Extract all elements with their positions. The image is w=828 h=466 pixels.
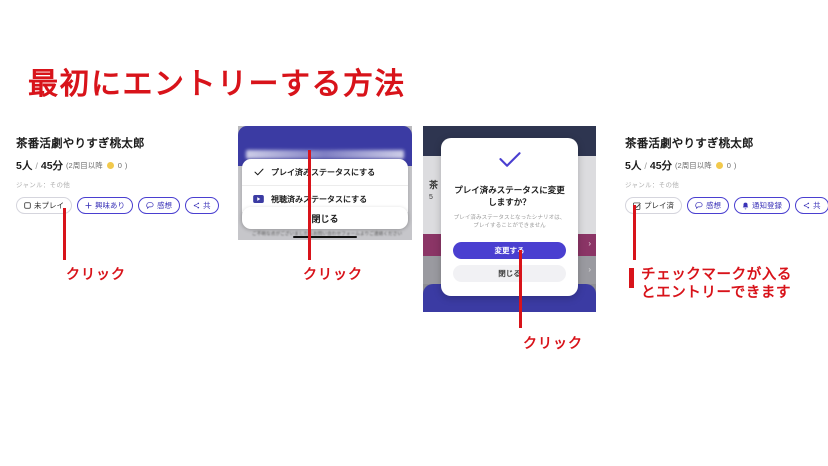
chip-share[interactable]: 共 [185,197,219,214]
sheet-close-label: 閉じる [311,212,338,225]
bg-card-meta-ghost: 5 [429,194,433,201]
home-indicator [293,236,357,238]
comment-icon [146,202,154,209]
card-meta: 5人 / 45分 (2周目以降 0 ) [16,158,231,173]
callout-line-step1 [63,208,66,260]
card-action-chips: プレイ済 感想 通知登録 共 [625,197,828,214]
repeat-note: (2周目以降 [66,160,103,171]
chip-label: 通知登録 [752,200,782,211]
check-icon [441,151,578,173]
square-outline-icon [24,202,31,209]
repeat-count: 0 [727,161,731,170]
meta-slash: / [35,161,38,171]
chip-label: 感想 [157,200,172,211]
repeat-close: ) [125,161,128,170]
player-count: 5人 [16,158,32,173]
dialog-close-button[interactable]: 閉じる [453,265,566,282]
callout-note-step4: チェックマークが入る とエントリーできます [641,266,792,302]
callout-label-step3: クリック [523,333,583,353]
sheet-row-label: プレイ済みステータスにする [271,167,375,178]
card-title: 茶番活劇やりすぎ桃太郎 [625,135,828,151]
callout-note-line1: チェックマークが入る [641,266,792,284]
callout-line-step3 [519,250,522,328]
bg-card-title-ghost: 茶 [429,178,438,191]
repeat-count: 0 [118,161,122,170]
plus-icon [85,202,92,209]
sheet-close-button[interactable]: 閉じる [242,207,408,229]
share-icon [803,202,810,209]
card-title: 茶番活劇やりすぎ桃太郎 [16,135,231,151]
step2-phone-screen: プレイ済みステータスにする 視聴済みステータスにする 終了したイベントです 閉じ… [238,126,412,240]
sheet-row-label: 視聴済みステータスにする [271,194,367,205]
chip-review[interactable]: 感想 [687,197,729,214]
coin-icon [107,162,114,169]
blurred-header-text [246,150,404,159]
repeat-note: (2周目以降 [675,160,712,171]
sheet-row-play-status[interactable]: プレイ済みステータスにする [242,159,408,186]
player-count: 5人 [625,158,641,173]
callout-accent-bar [629,268,634,288]
dialog-close-label: 閉じる [498,268,521,279]
meta-slash: / [644,161,647,171]
callout-note-line2: とエントリーできます [641,284,792,302]
slide-canvas: 最初にエントリーする方法 茶番活劇やりすぎ桃太郎 5人 / 45分 (2周目以降… [0,0,828,466]
chip-review[interactable]: 感想 [138,197,180,214]
chip-notify[interactable]: 通知登録 [734,197,790,214]
confirm-dialog: プレイ済みステータスに変更しますか？ プレイ済みステータスとなったシナリオは、プ… [441,138,578,296]
comment-icon [695,202,703,209]
chip-label: 共 [813,200,821,211]
bg-chevron-icon: › [588,239,591,248]
card-action-chips: 未プレイ 興味あり 感想 共 [16,197,231,214]
chip-label: 未プレイ [34,200,64,211]
repeat-close: ) [734,161,737,170]
duration: 45分 [650,158,672,173]
dialog-subtitle: プレイ済みステータスとなったシナリオは、プレイすることができません [441,214,578,231]
share-icon [193,202,200,209]
check-icon [253,168,264,176]
card-genre: ジャンル：その他 [16,179,231,189]
video-icon [253,195,264,203]
card-genre: ジャンル：その他 [625,179,828,189]
page-title: 最初にエントリーする方法 [28,59,406,103]
chip-interested[interactable]: 興味あり [77,197,133,214]
dialog-confirm-button[interactable]: 変更する [453,242,566,259]
step1-scenario-card: 茶番活劇やりすぎ桃太郎 5人 / 45分 (2周目以降 0 ) ジャンル：その他… [16,135,231,214]
chip-label: プレイ済 [644,200,674,211]
phone-top-bar [238,126,412,144]
callout-line-step2 [308,150,311,260]
chip-label: 感想 [706,200,721,211]
bell-icon [742,202,749,210]
step4-scenario-card: 茶番活劇やりすぎ桃太郎 5人 / 45分 (2周目以降 0 ) ジャンル：その他… [625,135,828,214]
card-meta: 5人 / 45分 (2周目以降 0 ) [625,158,828,173]
coin-icon [716,162,723,169]
bg-chevron-icon-2: › [588,265,591,274]
duration: 45分 [41,158,63,173]
chip-label: 興味あり [95,200,125,211]
callout-line-step4 [633,205,636,260]
dialog-title: プレイ済みステータスに変更しますか？ [441,184,578,209]
callout-label-step2: クリック [303,264,363,284]
step3-phone-screen: 茶 5 › › プレイ済みステータスに変更しますか？ プレイ済みステータスとなっ… [423,126,596,312]
chip-share[interactable]: 共 [795,197,828,214]
callout-label-step1: クリック [66,264,126,284]
chip-label: 共 [203,200,211,211]
